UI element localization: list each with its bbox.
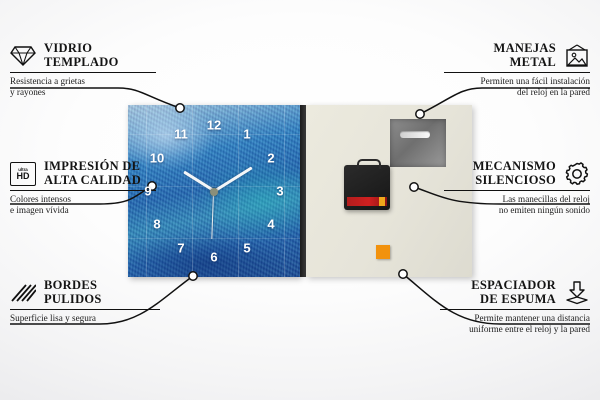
callout-header: ESPACIADOR DE ESPUMA [440,279,590,306]
picture-hanger-icon [564,43,590,69]
clock-numeral-6: 6 [210,251,217,264]
callout-title-line1: VIDRIO [44,41,92,55]
callout-title-line1: IMPRESIÓN DE [44,159,140,173]
callout-description: Permite mantener una distancia uniforme … [440,313,590,335]
mechanism-label-accent [379,197,385,206]
callout-description: Superficie lisa y segura [10,313,160,324]
callout-desc-line2: no emiten ningún sonido [499,205,590,215]
callout-title: BORDES PULIDOS [44,279,102,306]
callout-divider [444,190,590,191]
callout-desc-line1: Permiten una fácil instalación [481,76,590,86]
callout-title: MANEJAS METAL [493,42,556,69]
polished-edges-icon [10,280,36,306]
callout-desc-line2: uniforme entre el reloj y la pared [469,324,590,334]
callout-title-line2: PULIDOS [44,292,102,306]
callout-title: ESPACIADOR DE ESPUMA [471,279,556,306]
callout-mecanismo-silencioso: MECANISMO SILENCIOSO Las manecillas del … [444,160,590,216]
callout-desc-line1: Las manecillas del reloj [502,194,590,204]
callout-divider [440,309,590,310]
callout-desc-line1: Colores intensos [10,194,71,204]
callout-title-line2: ALTA CALIDAD [44,173,141,187]
callout-desc-line1: Superficie lisa y segura [10,313,96,323]
callout-divider [10,72,156,73]
clock-numeral-11: 11 [174,128,188,141]
callout-title-line1: MECANISMO [473,159,556,173]
callout-header: ultra HD IMPRESIÓN DE ALTA CALIDAD [10,160,156,187]
foam-spacer-icon [564,280,590,306]
clock-minute-hand [213,166,252,192]
infographic-canvas: 12 1 2 3 4 5 6 7 8 9 10 11 [0,0,600,400]
callout-description: Resistencia a grietas y rayones [10,76,156,98]
clock-numeral-3: 3 [276,185,283,198]
callout-description: Permiten una fácil instalación del reloj… [444,76,590,98]
callout-title-line2: METAL [510,55,556,69]
callout-title-line2: TEMPLADO [44,55,119,69]
callout-header: VIDRIO TEMPLADO [10,42,156,69]
callout-bordes-pulidos: BORDES PULIDOS Superficie lisa y segura [10,279,160,324]
callout-desc-line1: Permite mantener una distancia [474,313,590,323]
callout-description: Colores intensos e imagen vívida [10,194,156,216]
callout-desc-line2: del reloj en la pared [517,87,590,97]
clock-second-hand [212,191,215,239]
callout-title-line2: SILENCIOSO [475,173,556,187]
callout-description: Las manecillas del reloj no emiten ningú… [444,194,590,216]
gear-icon [564,161,590,187]
callout-desc-line1: Resistencia a grietas [10,76,85,86]
callout-title: IMPRESIÓN DE ALTA CALIDAD [44,160,141,187]
callout-divider [10,309,160,310]
callout-divider [10,190,156,191]
callout-espaciador-de-espuma: ESPACIADOR DE ESPUMA Permite mantener un… [440,279,590,335]
callout-title: VIDRIO TEMPLADO [44,42,119,69]
callout-header: MANEJAS METAL [444,42,590,69]
clock-numeral-1: 1 [243,128,250,141]
clock-numeral-7: 7 [177,242,184,255]
clock-center-pin [210,188,218,196]
mechanism-label-band [347,197,387,206]
callout-divider [444,72,590,73]
callout-title-line2: DE ESPUMA [480,292,556,306]
clock-numeral-8: 8 [153,218,160,231]
callout-header: BORDES PULIDOS [10,279,160,306]
callout-impresion-alta-calidad: ultra HD IMPRESIÓN DE ALTA CALIDAD Color… [10,160,156,216]
callout-desc-line2: y rayones [10,87,45,97]
clock-mechanism-box [344,165,390,210]
clock-numeral-2: 2 [267,152,274,165]
callout-title: MECANISMO SILENCIOSO [473,160,556,187]
foam-spacer-pad [376,245,390,259]
clock-numeral-12: 12 [207,119,221,132]
clock-numeral-10: 10 [150,152,164,165]
callout-manejas-metal: MANEJAS METAL Permiten una fácil instala… [444,42,590,98]
callout-header: MECANISMO SILENCIOSO [444,160,590,187]
clock-numeral-5: 5 [243,242,250,255]
product-photo: 12 1 2 3 4 5 6 7 8 9 10 11 [128,105,472,277]
callout-desc-line2: e imagen vívida [10,205,69,215]
callout-title-line1: MANEJAS [493,41,556,55]
ultra-hd-icon: ultra HD [10,161,36,187]
diamond-icon [10,43,36,69]
callout-vidrio-templado: VIDRIO TEMPLADO Resistencia a grietas y … [10,42,156,98]
mechanism-knob [357,159,381,169]
hanger-slot [400,131,430,138]
ultra-hd-big-text: HD [17,172,30,181]
clock-numeral-4: 4 [267,218,274,231]
callout-title-line1: ESPACIADOR [471,278,556,292]
callout-title-line1: BORDES [44,278,97,292]
metal-hanger-icon [390,119,446,167]
clock-numeral-9: 9 [144,185,151,198]
